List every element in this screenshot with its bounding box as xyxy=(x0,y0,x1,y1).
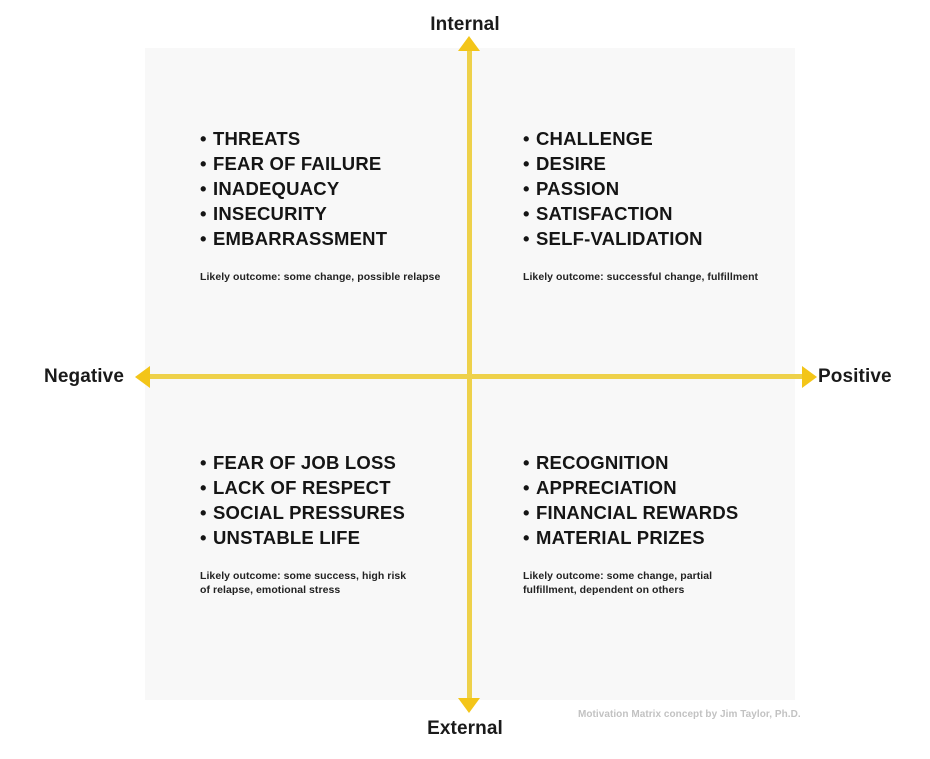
horizontal-axis-line xyxy=(140,374,812,379)
quadrant-item: •APPRECIATION xyxy=(523,475,768,500)
quadrant-item: •EMBARRASSMENT xyxy=(200,226,455,251)
quadrant-item-label: SOCIAL PRESSURES xyxy=(213,502,405,523)
quadrant-item-label: SELF-VALIDATION xyxy=(536,228,703,249)
bullet-icon: • xyxy=(523,525,536,550)
quadrant-item: •UNSTABLE LIFE xyxy=(200,525,455,550)
quadrant-external-positive: •RECOGNITION•APPRECIATION•FINANCIAL REWA… xyxy=(523,450,768,597)
quadrant-item: •FEAR OF FAILURE xyxy=(200,151,455,176)
axis-label-negative: Negative xyxy=(44,366,124,388)
quadrant-item-list: •RECOGNITION•APPRECIATION•FINANCIAL REWA… xyxy=(523,450,768,550)
quadrant-item-label: DESIRE xyxy=(536,153,606,174)
quadrant-item: •INSECURITY xyxy=(200,201,455,226)
quadrant-internal-negative: •THREATS•FEAR OF FAILURE•INADEQUACY•INSE… xyxy=(200,126,455,285)
quadrant-item-label: PASSION xyxy=(536,178,619,199)
quadrant-item-label: INSECURITY xyxy=(213,203,327,224)
arrow-up-icon xyxy=(458,36,480,51)
quadrant-item-label: FINANCIAL REWARDS xyxy=(536,502,738,523)
axis-label-positive: Positive xyxy=(818,366,892,388)
quadrant-item: •SELF-VALIDATION xyxy=(523,226,785,251)
quadrant-item: •FINANCIAL REWARDS xyxy=(523,500,768,525)
quadrant-item: •CHALLENGE xyxy=(523,126,785,151)
quadrant-item-label: FEAR OF FAILURE xyxy=(213,153,381,174)
quadrant-internal-positive: •CHALLENGE•DESIRE•PASSION•SATISFACTION•S… xyxy=(523,126,785,285)
bullet-icon: • xyxy=(200,450,213,475)
quadrant-item-label: APPRECIATION xyxy=(536,477,677,498)
bullet-icon: • xyxy=(523,226,536,251)
arrow-down-icon xyxy=(458,698,480,713)
bullet-icon: • xyxy=(523,151,536,176)
quadrant-item-label: MATERIAL PRIZES xyxy=(536,527,705,548)
bullet-icon: • xyxy=(200,475,213,500)
axis-label-external: External xyxy=(0,718,930,740)
bullet-icon: • xyxy=(523,450,536,475)
quadrant-item: •INADEQUACY xyxy=(200,176,455,201)
quadrant-item: •LACK OF RESPECT xyxy=(200,475,455,500)
vertical-axis-line xyxy=(467,45,472,700)
quadrant-item-list: •FEAR OF JOB LOSS•LACK OF RESPECT•SOCIAL… xyxy=(200,450,455,550)
quadrant-item-list: •CHALLENGE•DESIRE•PASSION•SATISFACTION•S… xyxy=(523,126,785,251)
bullet-icon: • xyxy=(200,126,213,151)
bullet-icon: • xyxy=(200,201,213,226)
quadrant-external-negative: •FEAR OF JOB LOSS•LACK OF RESPECT•SOCIAL… xyxy=(200,450,455,597)
bullet-icon: • xyxy=(200,500,213,525)
quadrant-outcome-text: Likely outcome: successful change, fulfi… xyxy=(523,271,785,285)
quadrant-item: •FEAR OF JOB LOSS xyxy=(200,450,455,475)
quadrant-item-list: •THREATS•FEAR OF FAILURE•INADEQUACY•INSE… xyxy=(200,126,455,251)
bullet-icon: • xyxy=(523,500,536,525)
quadrant-item-label: UNSTABLE LIFE xyxy=(213,527,360,548)
quadrant-outcome-text: Likely outcome: some change, possible re… xyxy=(200,271,455,285)
bullet-icon: • xyxy=(523,126,536,151)
quadrant-outcome-text: Likely outcome: some success, high risk … xyxy=(200,570,410,597)
bullet-icon: • xyxy=(200,525,213,550)
quadrant-item-label: LACK OF RESPECT xyxy=(213,477,391,498)
credit-attribution: Motivation Matrix concept by Jim Taylor,… xyxy=(578,709,801,720)
quadrant-item-label: SATISFACTION xyxy=(536,203,673,224)
quadrant-item: •SATISFACTION xyxy=(523,201,785,226)
quadrant-item: •MATERIAL PRIZES xyxy=(523,525,768,550)
quadrant-item-label: RECOGNITION xyxy=(536,452,669,473)
quadrant-item: •PASSION xyxy=(523,176,785,201)
quadrant-item-label: CHALLENGE xyxy=(536,128,653,149)
arrow-left-icon xyxy=(135,366,150,388)
quadrant-item-label: FEAR OF JOB LOSS xyxy=(213,452,396,473)
bullet-icon: • xyxy=(200,226,213,251)
quadrant-item-label: THREATS xyxy=(213,128,300,149)
bullet-icon: • xyxy=(523,475,536,500)
quadrant-item: •SOCIAL PRESSURES xyxy=(200,500,455,525)
bullet-icon: • xyxy=(523,176,536,201)
quadrant-item-label: INADEQUACY xyxy=(213,178,339,199)
bullet-icon: • xyxy=(523,201,536,226)
motivation-matrix-diagram: Internal External Negative Positive •THR… xyxy=(0,0,930,759)
axis-label-internal: Internal xyxy=(0,14,930,36)
quadrant-outcome-text: Likely outcome: some change, partial ful… xyxy=(523,570,733,597)
quadrant-item: •DESIRE xyxy=(523,151,785,176)
quadrant-item-label: EMBARRASSMENT xyxy=(213,228,387,249)
bullet-icon: • xyxy=(200,176,213,201)
quadrant-item: •THREATS xyxy=(200,126,455,151)
bullet-icon: • xyxy=(200,151,213,176)
arrow-right-icon xyxy=(802,366,817,388)
quadrant-item: •RECOGNITION xyxy=(523,450,768,475)
